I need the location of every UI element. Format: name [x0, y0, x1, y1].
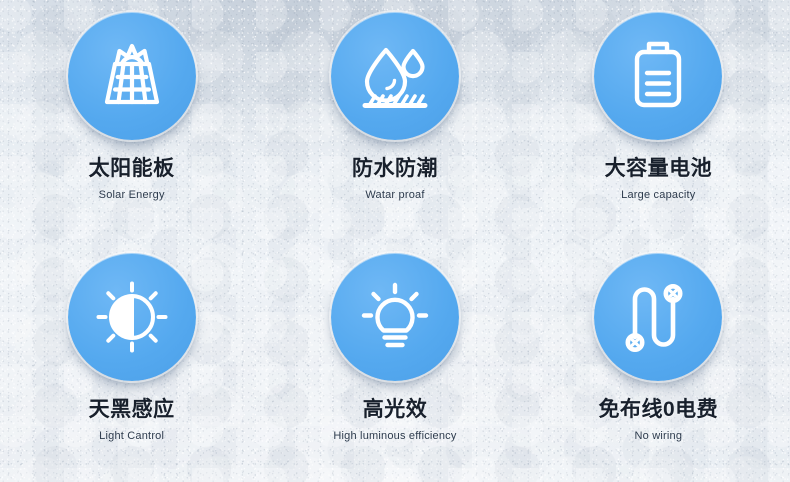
battery-icon — [615, 33, 701, 119]
light-bulb-icon — [352, 274, 438, 360]
feature-title: 高光效 — [363, 399, 428, 420]
feature-subtitle: Solar Energy — [99, 190, 165, 201]
feature-subtitle: Watar proaf — [365, 190, 424, 201]
icon-badge — [331, 12, 459, 140]
half-sun-icon — [89, 274, 175, 360]
feature-subtitle: No wiring — [635, 431, 683, 442]
feature-title: 免布线0电费 — [598, 399, 718, 420]
feature-grid: 太阳能板 Solar Energy — [0, 0, 790, 482]
icon-badge — [594, 12, 722, 140]
feature-subtitle: Light Cantrol — [99, 431, 164, 442]
feature-card-no-wiring[interactable]: 免布线0电费 No wiring — [527, 241, 790, 442]
feature-card-high-luminous-efficiency[interactable]: 高光效 High luminous efficiency — [263, 241, 526, 442]
feature-title: 防水防潮 — [352, 158, 438, 179]
feature-subtitle: Large capacity — [621, 190, 695, 201]
feature-title: 太阳能板 — [89, 158, 175, 179]
feature-title: 天黑感应 — [89, 399, 175, 420]
icon-badge — [68, 12, 196, 140]
water-drop-icon — [352, 33, 438, 119]
solar-panel-icon — [89, 33, 175, 119]
no-wiring-icon — [615, 274, 701, 360]
feature-card-large-capacity[interactable]: 大容量电池 Large capacity — [527, 0, 790, 201]
feature-card-water-proof[interactable]: 防水防潮 Watar proaf — [263, 0, 526, 201]
icon-badge — [331, 253, 459, 381]
feature-subtitle: High luminous efficiency — [333, 431, 456, 442]
icon-badge — [594, 253, 722, 381]
feature-card-solar-energy[interactable]: 太阳能板 Solar Energy — [0, 0, 263, 201]
feature-card-light-control[interactable]: 天黑感应 Light Cantrol — [0, 241, 263, 442]
feature-title: 大容量电池 — [605, 158, 713, 179]
icon-badge — [68, 253, 196, 381]
